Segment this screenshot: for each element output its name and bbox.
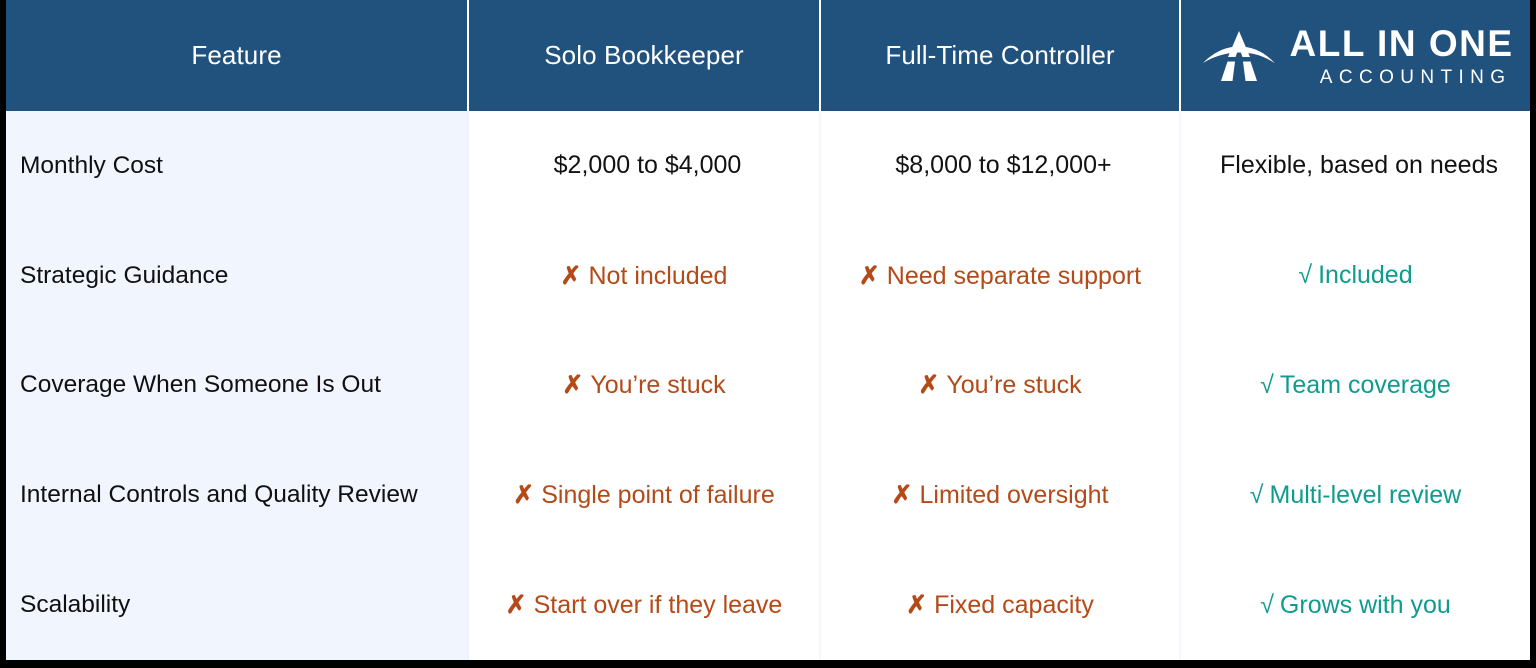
table-row: Strategic Guidance ✗Not included ✗Need s… bbox=[6, 221, 1530, 331]
cell-solo-bookkeeper: ✗You’re stuck bbox=[467, 331, 819, 441]
cell-text: $8,000 to $12,000+ bbox=[895, 151, 1111, 179]
check-icon: √ bbox=[1298, 261, 1312, 290]
table-frame: Feature Solo Bookkeeper Full-Time Contro… bbox=[0, 0, 1536, 668]
cell-all-in-one: Flexible, based on needs bbox=[1179, 111, 1530, 221]
comparison-table: Feature Solo Bookkeeper Full-Time Contro… bbox=[6, 0, 1530, 660]
cell-text: Included bbox=[1318, 261, 1413, 289]
header-label-full-time-controller: Full-Time Controller bbox=[885, 40, 1114, 71]
cell-text: Multi-level review bbox=[1270, 481, 1462, 509]
brand-line-2: ACCOUNTING bbox=[1320, 68, 1514, 87]
table-header-row: Feature Solo Bookkeeper Full-Time Contro… bbox=[6, 0, 1530, 111]
table-row: Monthly Cost $2,000 to $4,000 $8,000 to … bbox=[6, 111, 1530, 221]
brand-wordmark: ALL IN ONE ACCOUNTING bbox=[1290, 25, 1514, 87]
cell-full-time-controller: ✗Limited oversight bbox=[819, 440, 1179, 550]
feature-label: Strategic Guidance bbox=[6, 221, 467, 331]
cell-full-time-controller: ✗Need separate support bbox=[819, 221, 1179, 331]
cross-icon: ✗ bbox=[859, 261, 880, 291]
cell-text: Not included bbox=[588, 262, 727, 290]
header-label-feature: Feature bbox=[191, 40, 281, 71]
cell-full-time-controller: $8,000 to $12,000+ bbox=[819, 111, 1179, 221]
cross-icon: ✗ bbox=[892, 480, 913, 510]
cross-icon: ✗ bbox=[561, 261, 582, 291]
header-cell-solo-bookkeeper: Solo Bookkeeper bbox=[467, 0, 819, 111]
cell-text: Team coverage bbox=[1280, 371, 1451, 399]
check-icon: √ bbox=[1260, 371, 1274, 400]
table-row: Scalability ✗Start over if they leave ✗F… bbox=[6, 550, 1530, 660]
feature-label: Scalability bbox=[6, 550, 467, 660]
header-cell-full-time-controller: Full-Time Controller bbox=[819, 0, 1179, 111]
cross-icon: ✗ bbox=[562, 370, 583, 400]
brand-line-1: ALL IN ONE bbox=[1290, 25, 1514, 62]
cross-icon: ✗ bbox=[506, 590, 527, 620]
header-label-solo-bookkeeper: Solo Bookkeeper bbox=[544, 40, 744, 71]
all-in-one-accounting-logo-icon bbox=[1202, 28, 1276, 84]
feature-label: Monthly Cost bbox=[6, 111, 467, 221]
cell-all-in-one: √Grows with you bbox=[1179, 550, 1530, 660]
table-body: Monthly Cost $2,000 to $4,000 $8,000 to … bbox=[6, 111, 1530, 660]
table-row: Coverage When Someone Is Out ✗You’re stu… bbox=[6, 331, 1530, 441]
cell-text: Start over if they leave bbox=[534, 591, 783, 619]
cell-text: Flexible, based on needs bbox=[1220, 151, 1498, 179]
cell-solo-bookkeeper: $2,000 to $4,000 bbox=[467, 111, 819, 221]
cross-icon: ✗ bbox=[513, 480, 534, 510]
cross-icon: ✗ bbox=[906, 590, 927, 620]
cell-text: Grows with you bbox=[1280, 591, 1451, 619]
header-cell-feature: Feature bbox=[6, 0, 467, 111]
cell-all-in-one: √Included bbox=[1179, 221, 1530, 331]
cell-full-time-controller: ✗You’re stuck bbox=[819, 331, 1179, 441]
cross-icon: ✗ bbox=[918, 370, 939, 400]
cell-solo-bookkeeper: ✗Single point of failure bbox=[467, 440, 819, 550]
cell-all-in-one: √Team coverage bbox=[1179, 331, 1530, 441]
cell-text: You’re stuck bbox=[946, 371, 1081, 399]
cell-solo-bookkeeper: ✗Not included bbox=[467, 221, 819, 331]
cell-solo-bookkeeper: ✗Start over if they leave bbox=[467, 550, 819, 660]
table-row: Internal Controls and Quality Review ✗Si… bbox=[6, 440, 1530, 550]
cell-text: Fixed capacity bbox=[934, 591, 1094, 619]
cell-all-in-one: √Multi-level review bbox=[1179, 440, 1530, 550]
header-cell-brand: ALL IN ONE ACCOUNTING bbox=[1179, 0, 1530, 111]
cell-text: You’re stuck bbox=[590, 371, 725, 399]
cell-text: $2,000 to $4,000 bbox=[554, 151, 742, 179]
cell-text: Single point of failure bbox=[541, 481, 774, 509]
cell-text: Limited oversight bbox=[919, 481, 1108, 509]
cell-full-time-controller: ✗Fixed capacity bbox=[819, 550, 1179, 660]
feature-label: Coverage When Someone Is Out bbox=[6, 331, 467, 441]
check-icon: √ bbox=[1260, 591, 1274, 620]
cell-text: Need separate support bbox=[887, 262, 1141, 290]
feature-label: Internal Controls and Quality Review bbox=[6, 440, 467, 550]
check-icon: √ bbox=[1250, 481, 1264, 510]
